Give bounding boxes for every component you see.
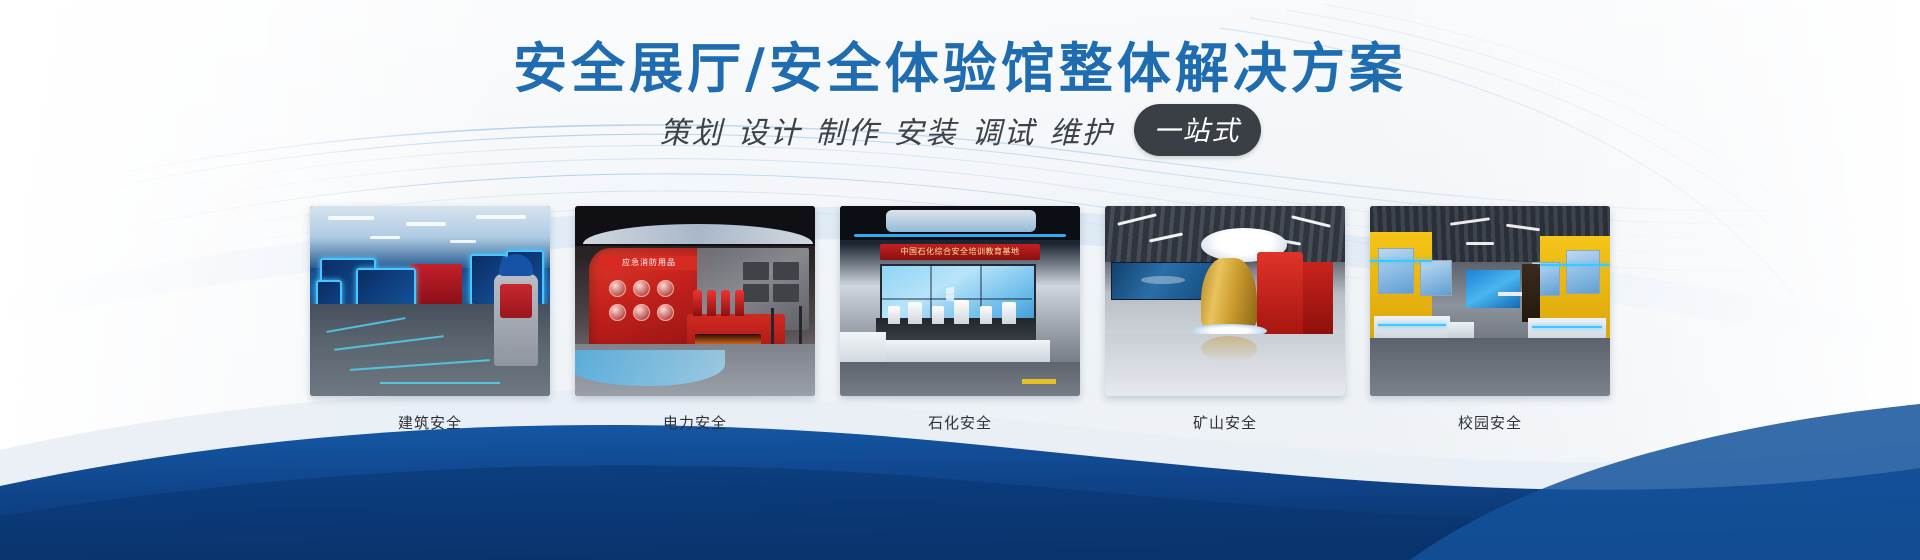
- service-item-3: 安装: [894, 108, 958, 152]
- thumbnail-gallery: 建筑安全 应急消防用品: [0, 206, 1920, 433]
- service-item-4: 调试: [972, 108, 1036, 152]
- thumbnail-caption: 校园安全: [1458, 412, 1522, 433]
- one-stop-badge: 一站式: [1134, 104, 1261, 156]
- thumbnail-item[interactable]: 校园安全: [1370, 206, 1610, 433]
- thumbnail-image-petrochemical[interactable]: 中国石化综合安全培训教育基地: [840, 206, 1080, 396]
- thumbnail-caption: 矿山安全: [1193, 412, 1257, 433]
- thumbnail-caption: 建筑安全: [398, 412, 462, 433]
- thumbnail-image-campus[interactable]: [1370, 206, 1610, 396]
- service-item-5: 维护: [1050, 108, 1114, 152]
- title-block: 安全展厅/安全体验馆整体解决方案: [0, 24, 1920, 103]
- thumbnail-image-construction[interactable]: [310, 206, 550, 396]
- service-item-1: 设计: [738, 108, 802, 152]
- service-item-2: 制作: [816, 108, 880, 152]
- thumbnail-sign-text: 应急消防用品: [599, 256, 699, 270]
- thumbnail-caption: 石化安全: [928, 412, 992, 433]
- page-title: 安全展厅/安全体验馆整体解决方案: [513, 24, 1407, 103]
- thumbnail-item[interactable]: 中国石化综合安全培训教育基地: [840, 206, 1080, 433]
- thumbnail-item[interactable]: 应急消防用品: [575, 206, 815, 433]
- subtitle-block: 策划 设计 制作 安装 调试 维护 一站式: [0, 104, 1920, 156]
- banner-root: 安全展厅/安全体验馆整体解决方案 策划 设计 制作 安装 调试 维护 一站式: [0, 0, 1920, 560]
- thumbnail-image-mining[interactable]: [1105, 206, 1345, 396]
- thumbnail-sign-text: 中国石化综合安全培训教育基地: [880, 244, 1040, 260]
- thumbnail-item[interactable]: 建筑安全: [310, 206, 550, 433]
- service-item-0: 策划: [660, 108, 724, 152]
- thumbnail-image-power[interactable]: 应急消防用品: [575, 206, 815, 396]
- thumbnail-caption: 电力安全: [663, 412, 727, 433]
- thumbnail-item[interactable]: 矿山安全: [1105, 206, 1345, 433]
- service-list: 策划 设计 制作 安装 调试 维护 一站式: [660, 104, 1261, 156]
